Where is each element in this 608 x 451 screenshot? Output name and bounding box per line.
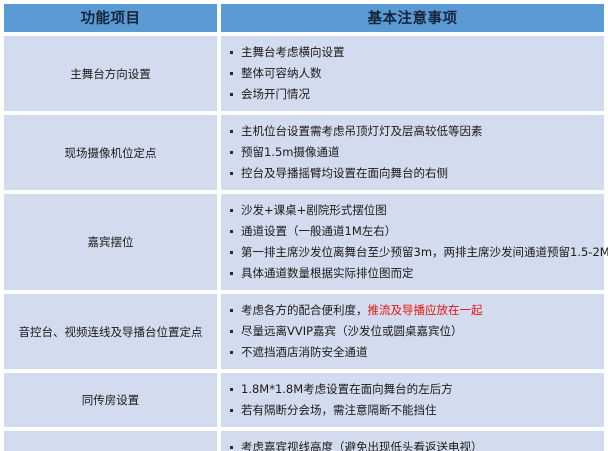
notes-list: 主机位台设置需考虑吊顶灯灯及层高较低等因素预留1.5m摄像通道控台及导播摇臂均设… bbox=[225, 121, 598, 184]
notes-list-item: 会场开门情况 bbox=[225, 84, 598, 105]
requirements-table: 功能项目 基本注意事项 主舞台方向设置主舞台考虑横向设置整体可容纳人数会场开门情… bbox=[0, 0, 608, 451]
note-text: 控台及导播摇臂均设置在面向舞台的右侧 bbox=[241, 166, 448, 180]
notes-cell: 考虑嘉宾视线高度（避免出现低头看返送电视）不同形式下（主题演讲或Panel）返送… bbox=[221, 431, 604, 451]
notes-list: 1.8M*1.8M考虑设置在面向舞台的左后方若有隔断分会场，需注意隔断不能挡住 bbox=[225, 379, 598, 421]
category-cell: 返送电视机设置 bbox=[4, 431, 217, 451]
notes-list-item: 主舞台考虑横向设置 bbox=[225, 42, 598, 63]
notes-list-item: 不遮挡酒店消防安全通道 bbox=[225, 342, 598, 363]
notes-list-item: 考虑各方的配合便利度，推流及导播应放在一起 bbox=[225, 300, 598, 321]
note-text: 具体通道数量根据实际排位图而定 bbox=[241, 266, 414, 280]
notes-cell: 主舞台考虑横向设置整体可容纳人数会场开门情况 bbox=[221, 36, 604, 111]
note-text: 1.8M*1.8M考虑设置在面向舞台的左后方 bbox=[241, 382, 453, 396]
notes-cell: 主机位台设置需考虑吊顶灯灯及层高较低等因素预留1.5m摄像通道控台及导播摇臂均设… bbox=[221, 115, 604, 190]
note-text: 尽量远离VVIP嘉宾（沙发位或圆桌嘉宾位） bbox=[241, 324, 463, 338]
note-text: 考虑嘉宾视线高度（避免出现低头看返送电视） bbox=[241, 440, 483, 451]
notes-list-item: 具体通道数量根据实际排位图而定 bbox=[225, 263, 598, 284]
notes-list-item: 考虑嘉宾视线高度（避免出现低头看返送电视） bbox=[225, 437, 598, 451]
note-text: 不遮挡酒店消防安全通道 bbox=[241, 345, 368, 359]
notes-list-item: 主机位台设置需考虑吊顶灯灯及层高较低等因素 bbox=[225, 121, 598, 142]
notes-list-item: 整体可容纳人数 bbox=[225, 63, 598, 84]
notes-list-item: 沙发+课桌+剧院形式摆位图 bbox=[225, 200, 598, 221]
column-header-basic-notes: 基本注意事项 bbox=[221, 4, 604, 32]
notes-list: 主舞台考虑横向设置整体可容纳人数会场开门情况 bbox=[225, 42, 598, 105]
category-cell: 嘉宾摆位 bbox=[4, 194, 217, 290]
notes-list-item: 第一排主席沙发位离舞台至少预留3m，两排主席沙发间通道预留1.5-2M bbox=[225, 242, 598, 263]
table-body: 主舞台方向设置主舞台考虑横向设置整体可容纳人数会场开门情况现场摄像机位定点主机位… bbox=[4, 36, 604, 451]
note-text: 整体可容纳人数 bbox=[241, 66, 322, 80]
category-cell: 同传房设置 bbox=[4, 373, 217, 427]
notes-list: 考虑嘉宾视线高度（避免出现低头看返送电视）不同形式下（主题演讲或Panel）返送… bbox=[225, 437, 598, 451]
note-text: 第一排主席沙发位离舞台至少预留3m，两排主席沙发间通道预留1.5-2M bbox=[241, 245, 608, 259]
note-text: 通道设置（一般通道1M左右） bbox=[241, 224, 396, 238]
table-row: 嘉宾摆位沙发+课桌+剧院形式摆位图通道设置（一般通道1M左右）第一排主席沙发位离… bbox=[4, 194, 604, 290]
note-text: 预留1.5m摄像通道 bbox=[241, 145, 340, 159]
notes-list-item: 1.8M*1.8M考虑设置在面向舞台的左后方 bbox=[225, 379, 598, 400]
requirements-table-container: 功能项目 基本注意事项 主舞台方向设置主舞台考虑横向设置整体可容纳人数会场开门情… bbox=[0, 0, 608, 451]
notes-cell: 考虑各方的配合便利度，推流及导播应放在一起尽量远离VVIP嘉宾（沙发位或圆桌嘉宾… bbox=[221, 294, 604, 369]
note-text: 主舞台考虑横向设置 bbox=[241, 45, 345, 59]
note-text: 会场开门情况 bbox=[241, 87, 310, 101]
category-cell: 现场摄像机位定点 bbox=[4, 115, 217, 190]
notes-cell: 沙发+课桌+剧院形式摆位图通道设置（一般通道1M左右）第一排主席沙发位离舞台至少… bbox=[221, 194, 604, 290]
notes-list-item: 控台及导播摇臂均设置在面向舞台的右侧 bbox=[225, 163, 598, 184]
note-text: 考虑各方的配合便利度， bbox=[241, 303, 368, 317]
table-header-row: 功能项目 基本注意事项 bbox=[4, 4, 604, 32]
note-highlight-text: 推流及导播应放在一起 bbox=[368, 303, 483, 317]
notes-list-item: 预留1.5m摄像通道 bbox=[225, 142, 598, 163]
note-text: 沙发+课桌+剧院形式摆位图 bbox=[241, 203, 387, 217]
notes-list: 考虑各方的配合便利度，推流及导播应放在一起尽量远离VVIP嘉宾（沙发位或圆桌嘉宾… bbox=[225, 300, 598, 363]
notes-list: 沙发+课桌+剧院形式摆位图通道设置（一般通道1M左右）第一排主席沙发位离舞台至少… bbox=[225, 200, 598, 284]
notes-list-item: 尽量远离VVIP嘉宾（沙发位或圆桌嘉宾位） bbox=[225, 321, 598, 342]
note-text: 若有隔断分会场，需注意隔断不能挡住 bbox=[241, 403, 437, 417]
table-row: 音控台、视频连线及导播台位置定点考虑各方的配合便利度，推流及导播应放在一起尽量远… bbox=[4, 294, 604, 369]
column-header-function-item: 功能项目 bbox=[4, 4, 217, 32]
notes-cell: 1.8M*1.8M考虑设置在面向舞台的左后方若有隔断分会场，需注意隔断不能挡住 bbox=[221, 373, 604, 427]
table-row: 现场摄像机位定点主机位台设置需考虑吊顶灯灯及层高较低等因素预留1.5m摄像通道控… bbox=[4, 115, 604, 190]
table-header: 功能项目 基本注意事项 bbox=[4, 4, 604, 32]
category-cell: 音控台、视频连线及导播台位置定点 bbox=[4, 294, 217, 369]
table-row: 主舞台方向设置主舞台考虑横向设置整体可容纳人数会场开门情况 bbox=[4, 36, 604, 111]
category-cell: 主舞台方向设置 bbox=[4, 36, 217, 111]
notes-list-item: 若有隔断分会场，需注意隔断不能挡住 bbox=[225, 400, 598, 421]
table-row: 返送电视机设置考虑嘉宾视线高度（避免出现低头看返送电视）不同形式下（主题演讲或P… bbox=[4, 431, 604, 451]
table-row: 同传房设置1.8M*1.8M考虑设置在面向舞台的左后方若有隔断分会场，需注意隔断… bbox=[4, 373, 604, 427]
notes-list-item: 通道设置（一般通道1M左右） bbox=[225, 221, 598, 242]
note-text: 主机位台设置需考虑吊顶灯灯及层高较低等因素 bbox=[241, 124, 483, 138]
